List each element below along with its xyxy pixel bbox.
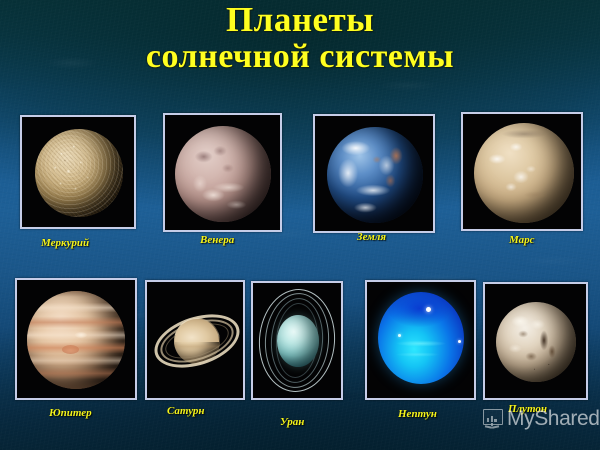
planet-label-mars: Марс [509, 234, 535, 246]
planet-label-uranus: Уран [280, 416, 304, 428]
planet-label-earth: Земля [357, 231, 386, 243]
uranus-planet-icon [277, 315, 319, 367]
page-title-line-2: солнечной системы [0, 38, 600, 75]
solar-system-slide: Планеты солнечной системы Меркурий Венер… [0, 0, 600, 450]
planet-card-venus[interactable] [163, 113, 282, 232]
planet-label-jupiter: Юпитер [49, 407, 92, 419]
pluto-planet-icon [496, 302, 576, 382]
page-title-line-1: Планеты [0, 0, 600, 38]
venus-planet-icon [175, 126, 271, 222]
planet-card-neptune[interactable] [365, 280, 476, 400]
planet-card-earth[interactable] [313, 114, 435, 233]
planet-card-mercury[interactable] [20, 115, 136, 229]
planet-label-venus: Венера [200, 234, 234, 246]
jupiter-white-oval-icon [75, 332, 87, 338]
neptune-moon-icon [426, 307, 431, 312]
great-red-spot-icon [62, 345, 79, 354]
neptune-red-limb [375, 289, 467, 387]
planet-card-uranus[interactable] [251, 281, 343, 400]
planet-card-saturn[interactable] [145, 280, 245, 400]
planet-card-mars[interactable] [461, 112, 583, 231]
mercury-planet-icon [35, 129, 123, 217]
mars-planet-icon [474, 123, 574, 223]
jupiter-planet-icon [27, 291, 125, 389]
planet-label-pluto: Плутон [508, 403, 547, 415]
planet-label-mercury: Меркурий [41, 237, 89, 249]
page-title: Планеты солнечной системы [0, 0, 600, 74]
planet-card-jupiter[interactable] [15, 278, 137, 400]
planet-label-neptune: Нептун [398, 408, 437, 420]
neptune-moon-icon [458, 340, 461, 343]
planet-card-pluto[interactable] [483, 282, 588, 400]
neptune-planet-icon [378, 292, 464, 384]
earth-planet-icon [327, 127, 423, 223]
planet-label-saturn: Сатурн [167, 405, 205, 417]
presentation-chart-icon [481, 408, 503, 429]
